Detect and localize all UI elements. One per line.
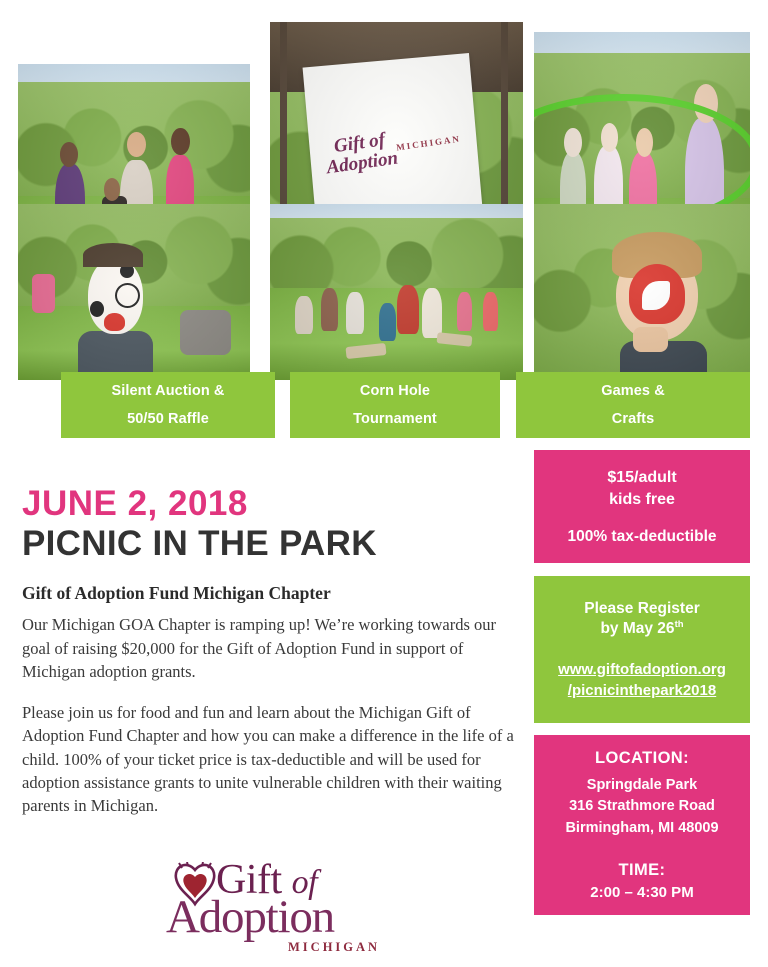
gift-of-adoption-logo: Gift of Adoption MICHIGAN (166, 856, 376, 951)
address-line-2: 316 Strathmore Road (565, 796, 718, 817)
tax-deductible-note: 100% tax-deductible (567, 528, 716, 546)
feature-line-1: Games & (601, 377, 665, 405)
price-box: $15/adult kids free 100% tax-deductible (534, 450, 750, 563)
flyer-page: Gift ofAdoptionMICHIGAN (0, 0, 768, 967)
event-date: JUNE 2, 2018 (22, 486, 522, 522)
address-line-1: Springdale Park (565, 775, 718, 796)
chapter-subheading: Gift of Adoption Fund Michigan Chapter (22, 583, 522, 604)
register-deadline: by May 26th (600, 619, 683, 640)
feature-line-1: Corn Hole (360, 377, 430, 405)
main-content-column: JUNE 2, 2018 PICNIC IN THE PARK Gift of … (22, 486, 522, 818)
photo-collage-row-2 (18, 204, 750, 380)
feature-line-2: Tournament (353, 405, 437, 433)
feature-box-silent-auction: Silent Auction & 50/50 Raffle (61, 372, 275, 438)
feature-line-2: 50/50 Raffle (127, 405, 209, 433)
price-adult: $15/adult (607, 467, 676, 489)
location-address: Springdale Park 316 Strathmore Road Birm… (565, 775, 718, 839)
location-header: LOCATION: (595, 749, 689, 768)
photo-vignette (18, 204, 250, 380)
photo-girl-face-paint-cat (18, 204, 250, 380)
register-box[interactable]: Please Register by May 26th www.giftofad… (534, 576, 750, 723)
location-box: LOCATION: Springdale Park 316 Strathmore… (534, 735, 750, 915)
photo-vignette (270, 204, 523, 380)
feature-line-1: Silent Auction & (111, 377, 224, 405)
register-url-line-2[interactable]: /picnicinthepark2018 (558, 680, 726, 701)
body-paragraph-1: Our Michigan GOA Chapter is ramping up! … (22, 613, 522, 683)
register-heading: Please Register (584, 599, 699, 620)
register-url[interactable]: www.giftofadoption.org /picnicinthepark2… (558, 659, 726, 701)
register-url-line-1[interactable]: www.giftofadoption.org (558, 659, 726, 680)
photo-collage: Gift ofAdoptionMICHIGAN (18, 22, 750, 358)
logo-word-adoption: Adoption (166, 890, 334, 944)
page-title: PICNIC IN THE PARK (22, 526, 522, 563)
address-line-3: Birmingham, MI 48009 (565, 818, 718, 839)
logo-word-michigan: MICHIGAN (288, 940, 380, 955)
photo-corn-hole-lawn-games (270, 204, 523, 380)
price-kids: kids free (609, 489, 675, 511)
feature-box-games-crafts: Games & Crafts (516, 372, 750, 438)
time-header: TIME: (619, 861, 666, 880)
photo-vignette (534, 204, 750, 380)
register-deadline-text: by May 26 (600, 621, 674, 638)
body-paragraph-2: Please join us for food and fun and lear… (22, 701, 522, 818)
feature-box-corn-hole: Corn Hole Tournament (290, 372, 500, 438)
ordinal-suffix: th (675, 619, 684, 630)
photo-boy-spiderman-face-paint (534, 204, 750, 380)
time-value: 2:00 – 4:30 PM (590, 884, 693, 901)
feature-boxes-row: Silent Auction & 50/50 Raffle Corn Hole … (0, 372, 768, 438)
feature-line-2: Crafts (612, 405, 655, 433)
